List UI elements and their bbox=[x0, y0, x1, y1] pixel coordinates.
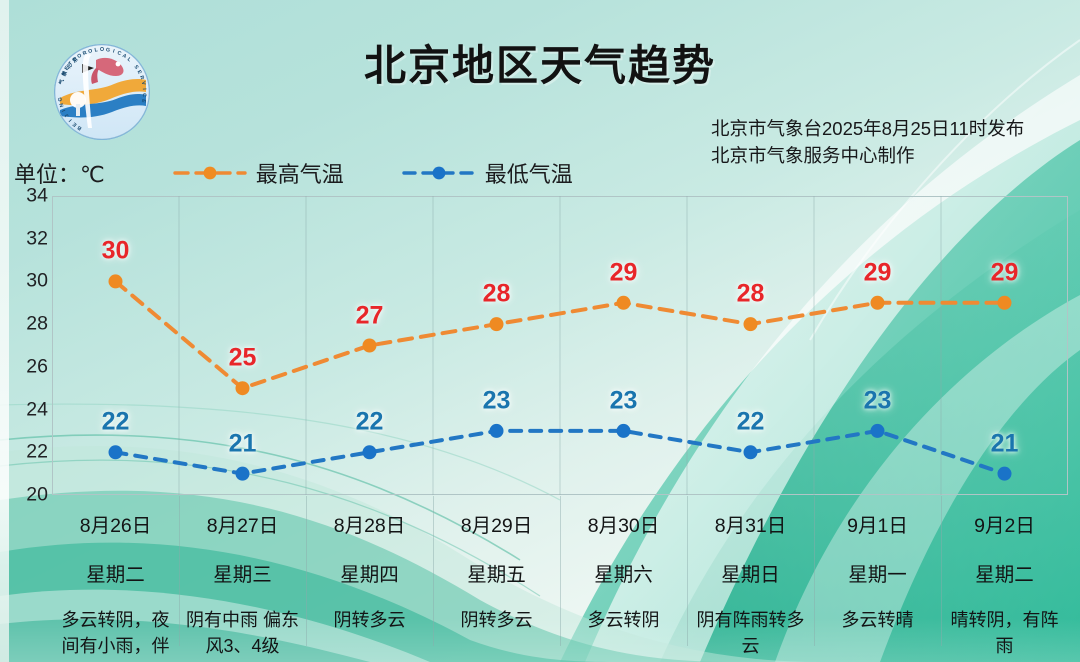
day-columns: 8月26日星期二多云转阴，夜间有小雨，伴有弱雷电8月27日星期三阴有中雨 偏东风… bbox=[52, 496, 1068, 662]
day-column: 9月1日星期一多云转晴 bbox=[814, 496, 941, 662]
publisher-line-2: 北京市气象服务中心制作 bbox=[711, 142, 1024, 169]
day-weather-description: 阴有中雨 偏东风3、4级 bbox=[184, 607, 301, 659]
low-temp-marker bbox=[490, 424, 504, 438]
day-column: 8月27日星期三阴有中雨 偏东风3、4级 bbox=[179, 496, 306, 662]
chart-legend: 单位：℃ 最高气温 最低气温 bbox=[14, 156, 631, 190]
y-axis-tick: 26 bbox=[8, 355, 48, 378]
low-temp-value-label: 23 bbox=[610, 386, 638, 415]
high-temp-marker bbox=[109, 274, 123, 288]
day-date: 8月31日 bbox=[692, 509, 809, 538]
high-temp-value-label: 28 bbox=[737, 280, 765, 309]
low-temp-value-label: 23 bbox=[864, 386, 892, 415]
legend-high-marker-icon bbox=[173, 164, 247, 182]
day-weather-description: 阴转多云 bbox=[311, 607, 428, 633]
legend-high-label: 最高气温 bbox=[256, 157, 344, 189]
legend-item-low: 最低气温 bbox=[402, 157, 573, 189]
day-weekday: 星期一 bbox=[819, 558, 936, 587]
page-title: 北京地区天气趋势 bbox=[0, 32, 1080, 93]
legend-low-marker-icon bbox=[402, 164, 476, 182]
low-temp-marker bbox=[236, 467, 250, 481]
day-weekday: 星期二 bbox=[946, 558, 1063, 587]
low-temp-marker bbox=[871, 424, 885, 438]
high-temp-value-label: 30 bbox=[102, 237, 130, 266]
y-axis-tick: 32 bbox=[8, 227, 48, 250]
y-axis-tick: 34 bbox=[8, 185, 48, 208]
day-weather-description: 阴有阵雨转多云 bbox=[692, 607, 809, 659]
day-weather-description: 多云转晴 bbox=[819, 607, 936, 633]
low-temp-marker bbox=[363, 445, 377, 459]
high-temp-marker bbox=[363, 339, 377, 353]
publisher-line-1: 北京市气象台2025年8月25日11时发布 bbox=[711, 115, 1024, 142]
y-axis: 2022242628303234 bbox=[8, 196, 48, 495]
low-temp-marker bbox=[744, 445, 758, 459]
high-temp-marker bbox=[617, 296, 631, 310]
high-temp-value-label: 29 bbox=[991, 258, 1019, 287]
day-weather-description: 多云转阴，夜间有小雨，伴有弱雷电 bbox=[57, 607, 174, 662]
day-date: 9月2日 bbox=[946, 509, 1063, 538]
day-weather-description: 阴转多云 bbox=[438, 607, 555, 633]
low-temp-marker bbox=[998, 467, 1012, 481]
day-weekday: 星期四 bbox=[311, 558, 428, 587]
day-column: 8月28日星期四阴转多云 bbox=[306, 496, 433, 662]
y-axis-tick: 30 bbox=[8, 270, 48, 293]
high-temp-value-label: 25 bbox=[229, 344, 257, 373]
high-temp-value-label: 29 bbox=[864, 258, 892, 287]
day-date: 8月29日 bbox=[438, 509, 555, 538]
high-temp-marker bbox=[871, 296, 885, 310]
day-date: 8月28日 bbox=[311, 509, 428, 538]
low-temp-value-label: 21 bbox=[229, 429, 257, 458]
weather-trend-infographic: M E T E O R O L O G I C A L S E R V I C bbox=[0, 0, 1080, 662]
low-temp-marker bbox=[617, 424, 631, 438]
day-column: 9月2日星期二晴转阴，有阵雨 bbox=[941, 496, 1068, 662]
day-date: 9月1日 bbox=[819, 509, 936, 538]
day-column: 8月31日星期日阴有阵雨转多云 bbox=[687, 496, 814, 662]
low-temp-value-label: 23 bbox=[483, 386, 511, 415]
day-date: 8月30日 bbox=[565, 509, 682, 538]
day-column: 8月29日星期五阴转多云 bbox=[433, 496, 560, 662]
low-temp-value-label: 21 bbox=[991, 429, 1019, 458]
publisher-info: 北京市气象台2025年8月25日11时发布 北京市气象服务中心制作 bbox=[711, 115, 1024, 169]
high-temp-value-label: 28 bbox=[483, 280, 511, 309]
day-weekday: 星期五 bbox=[438, 558, 555, 587]
legend-item-high: 最高气温 bbox=[173, 157, 344, 189]
day-weekday: 星期六 bbox=[565, 558, 682, 587]
day-column: 8月26日星期二多云转阴，夜间有小雨，伴有弱雷电 bbox=[52, 496, 179, 662]
low-temp-value-label: 22 bbox=[356, 408, 384, 437]
low-temp-value-label: 22 bbox=[737, 408, 765, 437]
y-axis-tick: 24 bbox=[8, 398, 48, 421]
day-weekday: 星期三 bbox=[184, 558, 301, 587]
legend-low-label: 最低气温 bbox=[485, 157, 573, 189]
day-column: 8月30日星期六多云转阴 bbox=[560, 496, 687, 662]
day-date: 8月27日 bbox=[184, 509, 301, 538]
low-temp-marker bbox=[109, 445, 123, 459]
day-weekday: 星期日 bbox=[692, 558, 809, 587]
low-temp-value-label: 22 bbox=[102, 408, 130, 437]
day-weekday: 星期二 bbox=[57, 558, 174, 587]
high-temp-value-label: 29 bbox=[610, 258, 638, 287]
high-temp-marker bbox=[490, 317, 504, 331]
high-temp-marker bbox=[744, 317, 758, 331]
high-temp-value-label: 27 bbox=[356, 301, 384, 330]
y-axis-tick: 28 bbox=[8, 313, 48, 336]
svg-text:C: C bbox=[141, 93, 147, 97]
temperature-line-chart bbox=[52, 196, 1068, 495]
y-axis-tick: 22 bbox=[8, 441, 48, 464]
high-temp-marker bbox=[998, 296, 1012, 310]
day-weather-description: 晴转阴，有阵雨 bbox=[946, 607, 1063, 659]
y-axis-tick: 20 bbox=[8, 484, 48, 507]
high-temp-marker bbox=[236, 381, 250, 395]
day-weather-description: 多云转阴 bbox=[565, 607, 682, 633]
day-date: 8月26日 bbox=[57, 509, 174, 538]
